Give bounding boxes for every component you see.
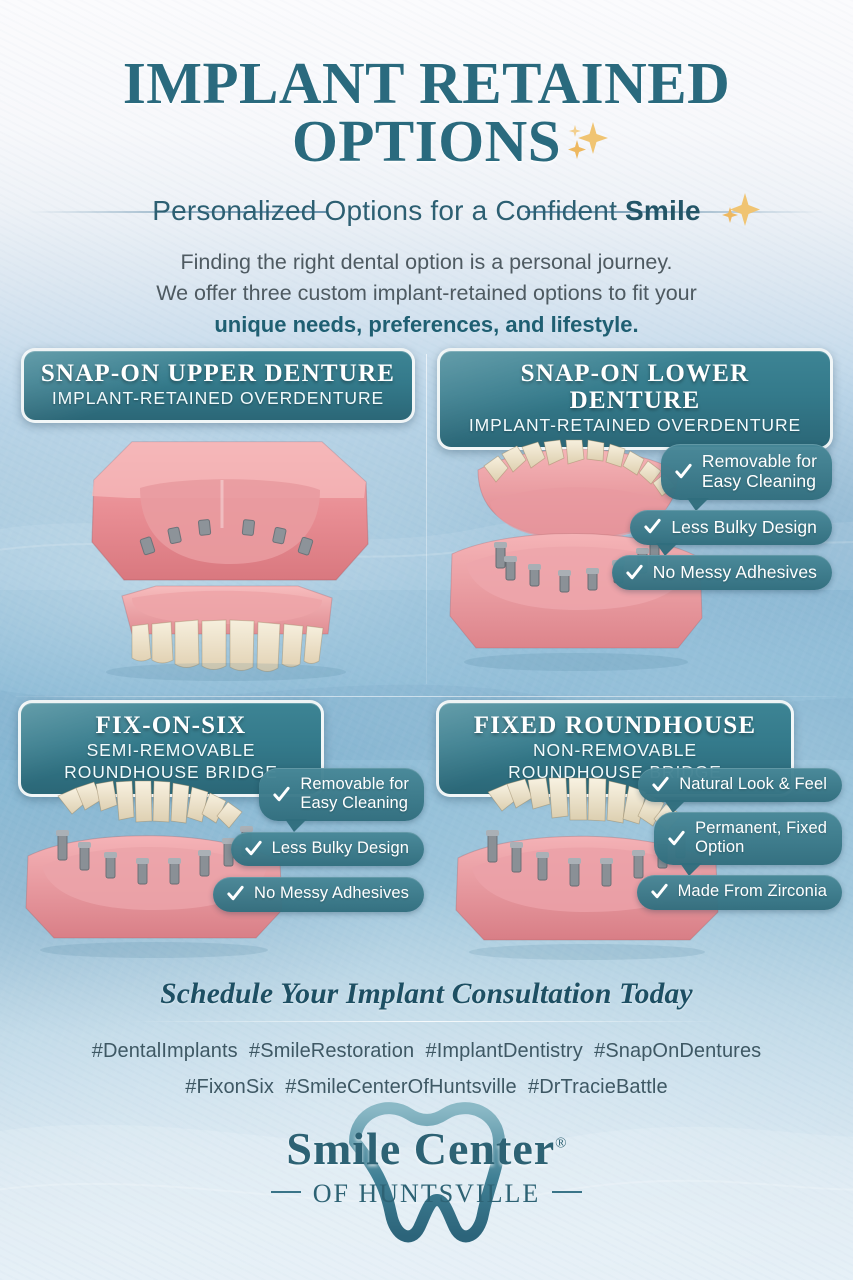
upper-denture-image — [36, 420, 416, 682]
card-snap-on-lower-denture[interactable]: SNAP-ON LOWER DENTURE IMPLANT-RETAINED O… — [432, 348, 838, 692]
poster-footer: Schedule Your Implant Consultation Today… — [0, 978, 853, 1105]
feature-pill[interactable]: Less Bulky Design — [630, 510, 832, 545]
grid-divider-vertical — [426, 354, 427, 684]
subtitle-text: Personalized Options for a Confident — [152, 195, 625, 226]
card-snap-on-upper-denture[interactable]: SNAP-ON UPPER DENTURE IMPLANT-RETAINED O… — [16, 348, 420, 692]
feature-list-fixed-roundhouse: Natural Look & Feel Permanent, Fixed Opt… — [637, 768, 842, 910]
title-line-1: IMPLANT RETAINED — [123, 50, 730, 116]
intro-line-1: Finding the right dental option is a per… — [77, 247, 777, 278]
check-icon — [226, 884, 245, 903]
infographic-poster: IMPLANT RETAINED OPTIONS Personalized Op… — [0, 0, 853, 1280]
feature-label: Removable for Easy Cleaning — [702, 451, 817, 492]
poster-header: IMPLANT RETAINED OPTIONS Personalized Op… — [0, 0, 853, 340]
intro-line-2: We offer three custom implant-retained o… — [77, 278, 777, 309]
card-title: SNAP-ON LOWER DENTURE — [456, 360, 814, 414]
feature-label: No Messy Adhesives — [653, 562, 817, 582]
page-title: IMPLANT RETAINED OPTIONS — [0, 0, 853, 171]
check-icon — [244, 839, 263, 858]
registered-mark: ® — [555, 1136, 566, 1152]
feature-pill[interactable]: Removable for Easy Cleaning — [661, 444, 832, 500]
check-icon — [625, 563, 644, 582]
check-icon — [674, 462, 693, 481]
check-icon — [667, 829, 686, 848]
feature-list-snap-on-lower-denture: Removable for Easy Cleaning Less Bulky D… — [612, 444, 832, 590]
feature-pill[interactable]: No Messy Adhesives — [612, 555, 832, 590]
feature-label: Less Bulky Design — [671, 517, 817, 537]
cta-text: Schedule Your Implant Consultation Today — [0, 978, 853, 1011]
logo-dash-left — [271, 1191, 301, 1193]
feature-label: Natural Look & Feel — [679, 775, 827, 794]
feature-label: Removable for Easy Cleaning — [300, 775, 409, 813]
feature-label: Permanent, Fixed Option — [695, 819, 827, 857]
title-line-2: OPTIONS — [292, 108, 561, 174]
options-grid: SNAP-ON UPPER DENTURE IMPLANT-RETAINED O… — [0, 348, 853, 978]
logo-name-text: Smile Center — [286, 1123, 555, 1174]
page-subtitle: Personalized Options for a Confident Smi… — [136, 189, 716, 233]
feature-pill[interactable]: Less Bulky Design — [231, 832, 424, 866]
check-icon — [643, 517, 662, 536]
intro-line-3: unique needs, preferences, and lifestyle… — [77, 309, 777, 341]
intro-paragraph: Finding the right dental option is a per… — [77, 247, 777, 341]
card-fix-on-six[interactable]: FIX-ON-SIX SEMI-REMOVABLE ROUNDHOUSE BRI… — [10, 700, 420, 976]
logo-tagline: OF HUNTSVILLE — [0, 1179, 853, 1209]
card-fixed-roundhouse[interactable]: FIXED ROUNDHOUSE NON-REMOVABLE ROUNDHOUS… — [432, 700, 842, 976]
feature-pill[interactable]: Natural Look & Feel — [638, 768, 842, 802]
feature-label: No Messy Adhesives — [254, 884, 409, 903]
hashtag-block: #DentalImplants #SmileRestoration #Impla… — [0, 1034, 853, 1105]
subtitle-emphasis: Smile — [625, 195, 701, 226]
check-icon — [651, 775, 670, 794]
card-title: FIXED ROUNDHOUSE — [455, 712, 775, 739]
hashtag-line-1: #DentalImplants #SmileRestoration #Impla… — [0, 1034, 853, 1070]
sparkle-icon — [715, 189, 763, 235]
card-title: FIX-ON-SIX — [37, 712, 305, 739]
logo-tagline-text: OF HUNTSVILLE — [313, 1179, 541, 1208]
subtitle-row: Personalized Options for a Confident Smi… — [0, 189, 853, 233]
card-title: SNAP-ON UPPER DENTURE — [40, 360, 396, 387]
brand-logo[interactable]: Smile Center® OF HUNTSVILLE — [0, 1096, 853, 1209]
feature-pill[interactable]: Permanent, Fixed Option — [654, 812, 842, 865]
feature-list-fix-on-six: Removable for Easy Cleaning Less Bulky D… — [213, 768, 424, 912]
logo-dash-right — [552, 1191, 582, 1193]
check-icon — [272, 785, 291, 804]
card-subtitle-line-1: SEMI-REMOVABLE — [37, 741, 305, 761]
sparkle-icon — [561, 116, 613, 168]
card-header-snap-on-upper-denture: SNAP-ON UPPER DENTURE IMPLANT-RETAINED O… — [21, 348, 415, 423]
card-subtitle: IMPLANT-RETAINED OVERDENTURE — [40, 389, 396, 409]
logo-name: Smile Center® — [0, 1096, 853, 1175]
card-subtitle-line-1: NON-REMOVABLE — [455, 741, 775, 761]
feature-label: Made From Zirconia — [678, 882, 827, 901]
grid-divider-horizontal — [16, 696, 837, 697]
check-icon — [650, 882, 669, 901]
footer-rule — [127, 1021, 727, 1022]
feature-label: Less Bulky Design — [272, 839, 409, 858]
feature-pill[interactable]: Removable for Easy Cleaning — [259, 768, 424, 821]
feature-pill[interactable]: No Messy Adhesives — [213, 877, 424, 911]
feature-pill[interactable]: Made From Zirconia — [637, 875, 842, 909]
